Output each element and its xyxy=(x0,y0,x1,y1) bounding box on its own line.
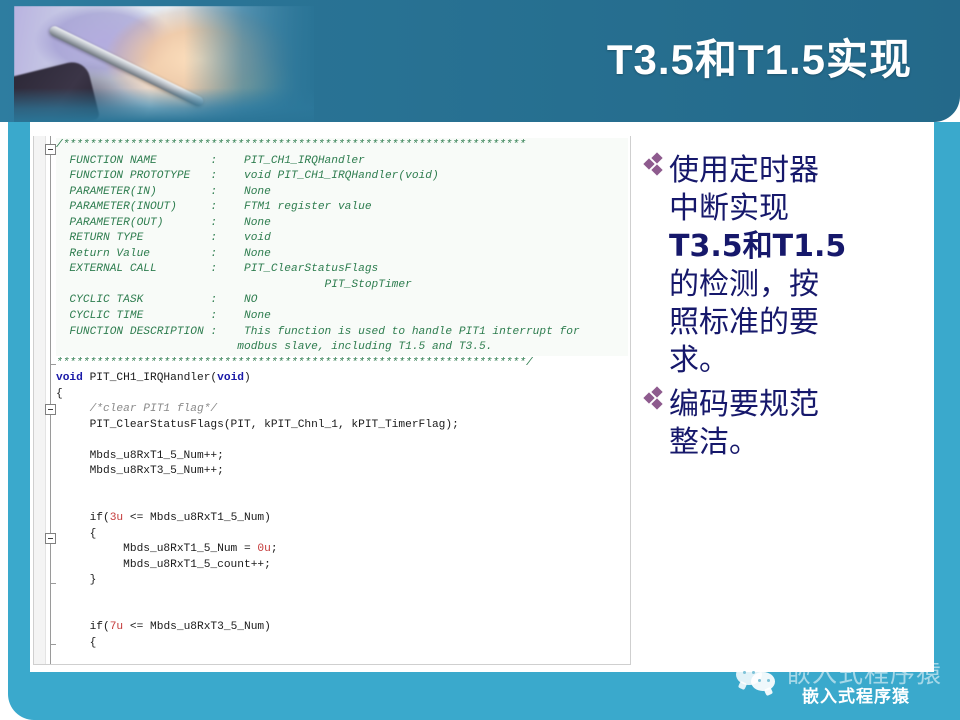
code-line: CYCLIC TIME : None xyxy=(56,309,628,325)
code-fold-toggle[interactable] xyxy=(45,404,56,415)
diamond-shape xyxy=(651,398,662,409)
code-fold-rail xyxy=(50,136,51,664)
code-line: void PIT_CH1_IRQHandler(void) xyxy=(56,371,628,387)
code-line: CYCLIC TASK : NO xyxy=(56,293,628,309)
code-token: /***************************************… xyxy=(56,139,526,151)
code-line xyxy=(56,496,628,512)
code-fold-toggle[interactable] xyxy=(45,533,56,544)
code-token: if( xyxy=(56,512,110,524)
code-token: RETURN TYPE : void xyxy=(56,232,271,244)
code-token: Mbds_u8RxT3_5_Num++; xyxy=(56,465,224,477)
code-token: 0u xyxy=(257,543,270,555)
diamond-bullet-icon xyxy=(645,152,669,184)
code-token: ; xyxy=(271,543,278,555)
code-line: if(3u <= Mbds_u8RxT1_5_Num) xyxy=(56,511,628,527)
code-line: { xyxy=(56,636,628,652)
bullet-text-line: 的检测，按 xyxy=(669,266,927,304)
code-token: { xyxy=(56,388,63,400)
code-line: Return Value : None xyxy=(56,247,628,263)
code-line: FUNCTION DESCRIPTION : This function is … xyxy=(56,325,628,341)
bullet-text-line: 照标准的要 xyxy=(669,304,927,342)
code-line: /*clear PIT1 flag*/ xyxy=(56,402,628,418)
code-line: PARAMETER(IN) : None xyxy=(56,185,628,201)
code-token: } xyxy=(56,574,96,586)
code-line: PARAMETER(INOUT) : FTM1 register value xyxy=(56,200,628,216)
code-token: CYCLIC TASK : NO xyxy=(56,294,257,306)
code-token: Mbds_u8RxT1_5_Num = xyxy=(56,543,257,555)
left-accent-bar xyxy=(8,122,30,672)
footer-accent-bar xyxy=(8,672,960,720)
code-token: EXTERNAL CALL : PIT_ClearStatusFlags xyxy=(56,263,378,275)
code-token: Mbds_u8RxT1_5_Num++; xyxy=(56,450,224,462)
code-line xyxy=(56,480,628,496)
bullet-text-line: 使用定时器 xyxy=(669,152,927,190)
code-line: PIT_StopTimer xyxy=(56,278,628,294)
diamond-shape xyxy=(651,164,662,175)
bullet-item: 使用定时器中断实现T3.5和T1.5的检测，按照标准的要求。 xyxy=(645,152,927,380)
code-line: Mbds_u8RxT1_5_count++; xyxy=(56,558,628,574)
code-line: { xyxy=(56,387,628,403)
code-token: modbus slave, including T1.5 and T3.5. xyxy=(56,341,492,353)
code-line: PIT_ClearStatusFlags(PIT, kPIT_Chnl_1, k… xyxy=(56,418,628,434)
code-token: PIT_CH1_IRQHandler( xyxy=(83,372,217,384)
page-title: T3.5和T1.5实现 xyxy=(607,26,912,87)
code-line: if(7u <= Mbds_u8RxT3_5_Num) xyxy=(56,620,628,636)
code-line: RETURN TYPE : void xyxy=(56,231,628,247)
bullet-text-line: 编码要规范 xyxy=(669,386,927,424)
header-photo xyxy=(14,6,314,122)
code-line: PARAMETER(OUT) : None xyxy=(56,216,628,232)
bullet-text-line: 整洁。 xyxy=(669,424,927,462)
code-token: 3u xyxy=(110,512,123,524)
code-token: void xyxy=(217,372,244,384)
code-line xyxy=(56,604,628,620)
slide-header-banner: T3.5和T1.5实现 xyxy=(0,0,960,122)
code-line: FUNCTION NAME : PIT_CH1_IRQHandler xyxy=(56,154,628,170)
code-line: EXTERNAL CALL : PIT_ClearStatusFlags xyxy=(56,262,628,278)
code-line: Mbds_u8RxT1_5_Num++; xyxy=(56,449,628,465)
code-token: FUNCTION NAME : PIT_CH1_IRQHandler xyxy=(56,155,365,167)
code-panel[interactable]: /***************************************… xyxy=(33,136,631,665)
code-token: Return Value : None xyxy=(56,248,271,260)
code-line: /***************************************… xyxy=(56,138,628,154)
diamond-bullet-icon xyxy=(645,386,669,418)
code-line: { xyxy=(56,527,628,543)
code-token: FUNCTION PROTOTYPE : void PIT_CH1_IRQHan… xyxy=(56,170,439,182)
code-token: <= Mbds_u8RxT1_5_Num) xyxy=(123,512,271,524)
code-token: if( xyxy=(56,621,110,633)
code-line: modbus slave, including T1.5 and T3.5. xyxy=(56,340,628,356)
code-token: ) xyxy=(244,372,251,384)
slide-root: T3.5和T1.5实现 /***************************… xyxy=(0,0,960,720)
code-line xyxy=(56,589,628,605)
code-token: void xyxy=(56,372,83,384)
code-token: Mbds_u8RxT1_5_count++; xyxy=(56,559,271,571)
bullet-text: 使用定时器中断实现T3.5和T1.5的检测，按照标准的要求。 xyxy=(669,152,927,380)
code-token: <= Mbds_u8RxT3_5_Num) xyxy=(123,621,271,633)
right-accent-bar xyxy=(934,122,960,674)
code-fold-toggle[interactable] xyxy=(45,144,56,155)
code-token: PARAMETER(IN) : None xyxy=(56,186,271,198)
photo-fade-bottom xyxy=(14,88,314,122)
code-token: PARAMETER(INOUT) : FTM1 register value xyxy=(56,201,372,213)
code-token: ****************************************… xyxy=(56,357,533,369)
bullet-item: 编码要规范整洁。 xyxy=(645,386,927,462)
code-token: 7u xyxy=(110,621,123,633)
bullet-text-line: T3.5和T1.5 xyxy=(669,228,927,266)
code-token: PIT_StopTimer xyxy=(56,279,412,291)
code-token: { xyxy=(56,637,96,649)
code-line: Mbds_u8RxT3_5_Num++; xyxy=(56,464,628,480)
bullet-list: 使用定时器中断实现T3.5和T1.5的检测，按照标准的要求。编码要规范整洁。 xyxy=(645,152,927,468)
code-line: FUNCTION PROTOTYPE : void PIT_CH1_IRQHan… xyxy=(56,169,628,185)
code-line: Mbds_u8RxT1_5_Num = 0u; xyxy=(56,542,628,558)
code-token: PARAMETER(OUT) : None xyxy=(56,217,271,229)
code-line: ****************************************… xyxy=(56,356,628,372)
bullet-text-line: 求。 xyxy=(669,342,927,380)
code-line: } xyxy=(56,573,628,589)
code-token: CYCLIC TIME : None xyxy=(56,310,271,322)
editor-gutter xyxy=(34,136,46,664)
code-token: /*clear PIT1 flag*/ xyxy=(56,403,217,415)
code-token: FUNCTION DESCRIPTION : This function is … xyxy=(56,326,580,338)
bullet-text-line: 中断实现 xyxy=(669,190,927,228)
code-token: PIT_ClearStatusFlags(PIT, kPIT_Chnl_1, k… xyxy=(56,419,459,431)
code-line xyxy=(56,433,628,449)
code-token: { xyxy=(56,528,96,540)
bullet-text: 编码要规范整洁。 xyxy=(669,386,927,462)
code-text[interactable]: /***************************************… xyxy=(56,138,628,664)
